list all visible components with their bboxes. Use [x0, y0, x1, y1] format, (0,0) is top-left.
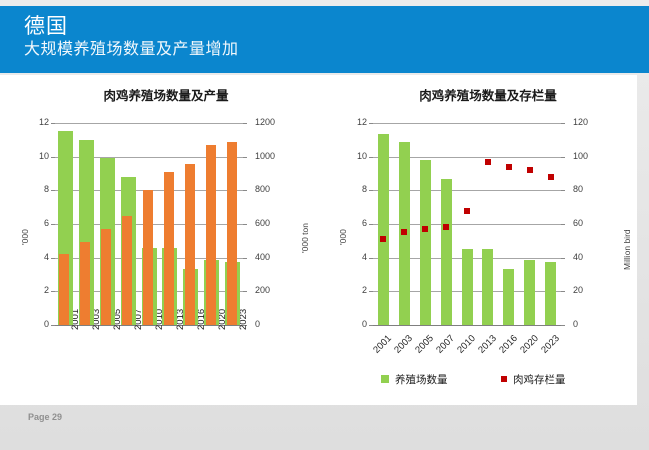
- y-axis-tick-label: 8: [333, 185, 367, 194]
- bar: [378, 134, 389, 325]
- x-axis-tick-label: 2005: [413, 333, 436, 356]
- y2-axis-tick-label: 80: [573, 185, 613, 194]
- y-axis-tickmark: [51, 224, 55, 225]
- y-axis-tickmark: [369, 325, 373, 326]
- y2-axis-tick-label: 60: [573, 219, 613, 228]
- legend-swatch-red-icon: [501, 376, 507, 382]
- data-point-marker: [527, 167, 533, 173]
- content-card: 肉鸡养殖场数量及产量 00220044006600880010100012120…: [0, 75, 637, 405]
- bar: [545, 262, 556, 325]
- chart-right-legend: 养殖场数量 肉鸡存栏量: [373, 372, 593, 388]
- y-axis-tick-label: 2: [333, 286, 367, 295]
- y2-axis-tick-label: 0: [255, 320, 295, 329]
- data-point-marker: [548, 174, 554, 180]
- chart-right-y2-axis-label: Million bird: [622, 229, 632, 270]
- x-axis-tick-label: 2020: [518, 333, 541, 356]
- y2-axis-tick-label: 1000: [255, 152, 295, 161]
- y-axis-tickmark: [51, 291, 55, 292]
- y-axis-tick-label: 10: [333, 152, 367, 161]
- y2-axis-tickmark: [561, 224, 565, 225]
- y-axis-tick-label: 6: [333, 219, 367, 228]
- chart-left-y-axis-label: '000: [20, 229, 30, 245]
- legend-item-inventory: 肉鸡存栏量: [501, 372, 566, 387]
- data-point-marker: [485, 159, 491, 165]
- chart-right-title: 肉鸡养殖场数量及存栏量: [338, 85, 638, 104]
- y-axis-tick-label: 10: [15, 152, 49, 161]
- y-axis-tick-label: 0: [333, 320, 367, 329]
- legend-label-inventory: 肉鸡存栏量: [513, 375, 566, 386]
- y2-axis-tick-label: 200: [255, 286, 295, 295]
- y-axis-tickmark: [51, 123, 55, 124]
- legend-item-farms: 养殖场数量: [381, 372, 448, 387]
- y-axis-tickmark: [369, 224, 373, 225]
- y2-axis-tick-label: 600: [255, 219, 295, 228]
- chart-left-plot-area: 0022004400660088001010001212002001200320…: [55, 123, 243, 325]
- y2-axis-tickmark: [561, 190, 565, 191]
- y2-axis-tick-label: 40: [573, 253, 613, 262]
- x-axis-tick-label: 2010: [455, 333, 478, 356]
- data-point-marker: [380, 236, 386, 242]
- y2-axis-tickmark: [561, 291, 565, 292]
- y-axis-tickmark: [369, 190, 373, 191]
- legend-label-farms: 养殖场数量: [395, 375, 448, 386]
- bar: [59, 254, 69, 325]
- chart-broiler-farms-and-production: 肉鸡养殖场数量及产量 00220044006600880010100012120…: [8, 75, 324, 375]
- y-axis-tickmark: [369, 157, 373, 158]
- bar: [482, 249, 493, 325]
- x-axis-tick-label: 2007: [434, 333, 457, 356]
- page-title: 德国: [24, 14, 649, 39]
- y2-axis-tick-label: 400: [255, 253, 295, 262]
- y2-axis-tick-label: 20: [573, 286, 613, 295]
- x-axis-line: [373, 325, 561, 326]
- y2-axis-tickmark: [243, 258, 247, 259]
- y-axis-tick-label: 4: [333, 253, 367, 262]
- y2-axis-tickmark: [561, 258, 565, 259]
- slide-header-banner: 德国 大规模养殖场数量及产量增加: [0, 6, 649, 73]
- bar: [164, 172, 174, 325]
- gridline: [55, 123, 243, 124]
- x-axis-tick-label: 2016: [497, 333, 520, 356]
- y-axis-tickmark: [51, 157, 55, 158]
- x-axis-tick-label: 2013: [476, 333, 499, 356]
- y2-axis-tickmark: [561, 123, 565, 124]
- chart-right-plot-area: 0022044066088010100121202001200320052007…: [373, 123, 561, 325]
- x-axis-line: [55, 325, 243, 326]
- data-point-marker: [422, 226, 428, 232]
- y2-axis-tickmark: [243, 157, 247, 158]
- bar: [143, 190, 153, 325]
- y2-axis-tick-label: 0: [573, 320, 613, 329]
- bar: [122, 216, 132, 325]
- y-axis-tickmark: [51, 258, 55, 259]
- y2-axis-tickmark: [243, 190, 247, 191]
- data-point-marker: [443, 224, 449, 230]
- y-axis-tick-label: 12: [333, 118, 367, 127]
- y2-axis-tickmark: [243, 224, 247, 225]
- data-point-marker: [401, 229, 407, 235]
- y-axis-tick-label: 4: [15, 253, 49, 262]
- bar: [524, 260, 535, 325]
- y-axis-tickmark: [369, 123, 373, 124]
- y2-axis-tick-label: 800: [255, 185, 295, 194]
- page-number-footer: Page 29: [28, 412, 62, 422]
- bar: [462, 249, 473, 325]
- bar: [503, 269, 514, 325]
- bar: [80, 242, 90, 325]
- x-axis-tick-label: 2023: [539, 333, 562, 356]
- bar: [206, 145, 216, 325]
- y2-axis-tick-label: 1200: [255, 118, 295, 127]
- bar: [441, 179, 452, 325]
- y-axis-tick-label: 0: [15, 320, 49, 329]
- y-axis-tickmark: [369, 258, 373, 259]
- y-axis-tick-label: 8: [15, 185, 49, 194]
- y-axis-tickmark: [51, 190, 55, 191]
- y-axis-tick-label: 12: [15, 118, 49, 127]
- y2-axis-tickmark: [561, 157, 565, 158]
- bar: [227, 142, 237, 325]
- y2-axis-tick-label: 120: [573, 118, 613, 127]
- y2-axis-tickmark: [243, 291, 247, 292]
- slide: 德国 大规模养殖场数量及产量增加 肉鸡养殖场数量及产量 002200440066…: [0, 0, 649, 450]
- chart-broiler-farms-and-inventory: 肉鸡养殖场数量及存栏量 0022044066088010100121202001…: [330, 75, 646, 395]
- y-axis-tick-label: 2: [15, 286, 49, 295]
- page-subtitle: 大规模养殖场数量及产量增加: [24, 39, 649, 61]
- x-axis-tick-label: 2003: [393, 333, 416, 356]
- chart-left-y2-axis-label: '000 ton: [300, 223, 310, 253]
- chart-left-title: 肉鸡养殖场数量及产量: [16, 85, 316, 104]
- legend-swatch-green-icon: [381, 375, 389, 383]
- y2-axis-tick-label: 100: [573, 152, 613, 161]
- chart-right-y-axis-label: '000: [338, 229, 348, 245]
- y-axis-tick-label: 6: [15, 219, 49, 228]
- y-axis-tickmark: [51, 325, 55, 326]
- bar: [101, 229, 111, 325]
- data-point-marker: [506, 164, 512, 170]
- y2-axis-tickmark: [243, 123, 247, 124]
- x-axis-tick-label: 2001: [372, 333, 395, 356]
- bar: [185, 164, 195, 325]
- y-axis-tickmark: [369, 291, 373, 292]
- data-point-marker: [464, 208, 470, 214]
- y2-axis-tickmark: [561, 325, 565, 326]
- bar: [420, 160, 431, 325]
- gridline: [373, 123, 561, 124]
